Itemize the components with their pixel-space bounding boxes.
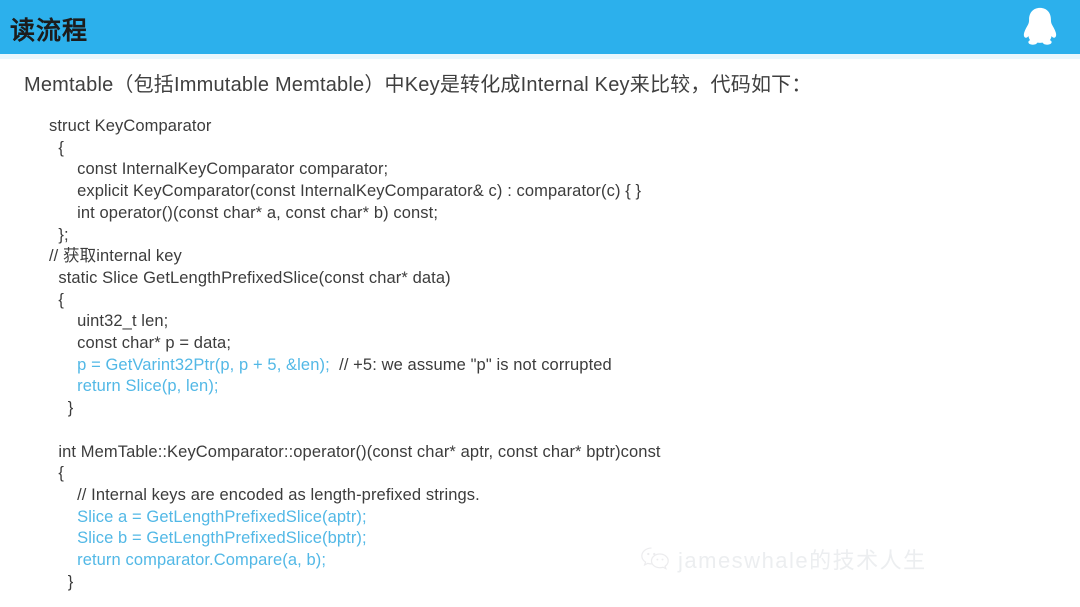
code-line: // Internal keys are encoded as length-p… <box>49 485 1049 507</box>
code-line: { <box>49 290 1049 312</box>
code-token: const InternalKeyComparator comparator; <box>49 160 388 178</box>
code-line: uint32_t len; <box>49 311 1049 333</box>
code-token: // 获取internal key <box>49 247 182 265</box>
code-token: const char* p = data; <box>49 334 231 352</box>
watermark-text: jameswhale的技术人生 <box>678 543 927 575</box>
code-token: uint32_t len; <box>49 312 168 330</box>
code-token: Slice a = GetLengthPrefixedSlice(aptr); <box>49 508 367 526</box>
qq-penguin-icon <box>1016 5 1064 51</box>
code-token: return comparator.Compare(a, b); <box>49 551 326 569</box>
code-token: { <box>49 291 64 309</box>
code-line: int operator()(const char* a, const char… <box>49 203 1049 225</box>
code-token: } <box>49 573 73 591</box>
code-token: Slice b = GetLengthPrefixedSlice(bptr); <box>49 529 367 547</box>
code-line: { <box>49 463 1049 485</box>
code-block: struct KeyComparator { const InternalKey… <box>49 116 1049 593</box>
code-token: // +5: we assume "p" is not corrupted <box>330 356 612 374</box>
code-line: // 获取internal key <box>49 246 1049 268</box>
code-token: int MemTable::KeyComparator::operator()(… <box>49 443 661 461</box>
code-line: } <box>49 572 1049 594</box>
page-title: 读流程 <box>10 11 88 47</box>
code-line: { <box>49 138 1049 160</box>
code-token: }; <box>49 226 69 244</box>
code-token: struct KeyComparator <box>49 117 211 135</box>
code-token: { <box>49 139 64 157</box>
watermark: jameswhale的技术人生 <box>640 543 927 575</box>
code-token: explicit KeyComparator(const InternalKey… <box>49 182 641 200</box>
code-token: static Slice GetLengthPrefixedSlice(cons… <box>49 269 451 287</box>
code-token: return Slice(p, len); <box>49 377 219 395</box>
code-line: struct KeyComparator <box>49 116 1049 138</box>
slide-header: 读流程 <box>0 0 1080 54</box>
code-line: int MemTable::KeyComparator::operator()(… <box>49 442 1049 464</box>
code-line: Slice a = GetLengthPrefixedSlice(aptr); <box>49 507 1049 529</box>
code-line: const InternalKeyComparator comparator; <box>49 159 1049 181</box>
code-token: p = GetVarint32Ptr(p, p + 5, &len); <box>49 356 330 374</box>
code-token: { <box>49 464 64 482</box>
wechat-icon <box>640 546 670 572</box>
code-line: p = GetVarint32Ptr(p, p + 5, &len); // +… <box>49 355 1049 377</box>
code-line: const char* p = data; <box>49 333 1049 355</box>
code-line: return Slice(p, len); <box>49 376 1049 398</box>
slide-content: Memtable（包括Immutable Memtable）中Key是转化成In… <box>0 59 1080 607</box>
code-line: explicit KeyComparator(const InternalKey… <box>49 181 1049 203</box>
code-line: static Slice GetLengthPrefixedSlice(cons… <box>49 268 1049 290</box>
intro-text: Memtable（包括Immutable Memtable）中Key是转化成In… <box>24 68 812 97</box>
code-token: // Internal keys are encoded as length-p… <box>49 486 480 504</box>
code-line: }; <box>49 225 1049 247</box>
code-line <box>49 420 1049 442</box>
code-line: } <box>49 398 1049 420</box>
code-token: } <box>49 399 73 417</box>
code-token: int operator()(const char* a, const char… <box>49 204 438 222</box>
